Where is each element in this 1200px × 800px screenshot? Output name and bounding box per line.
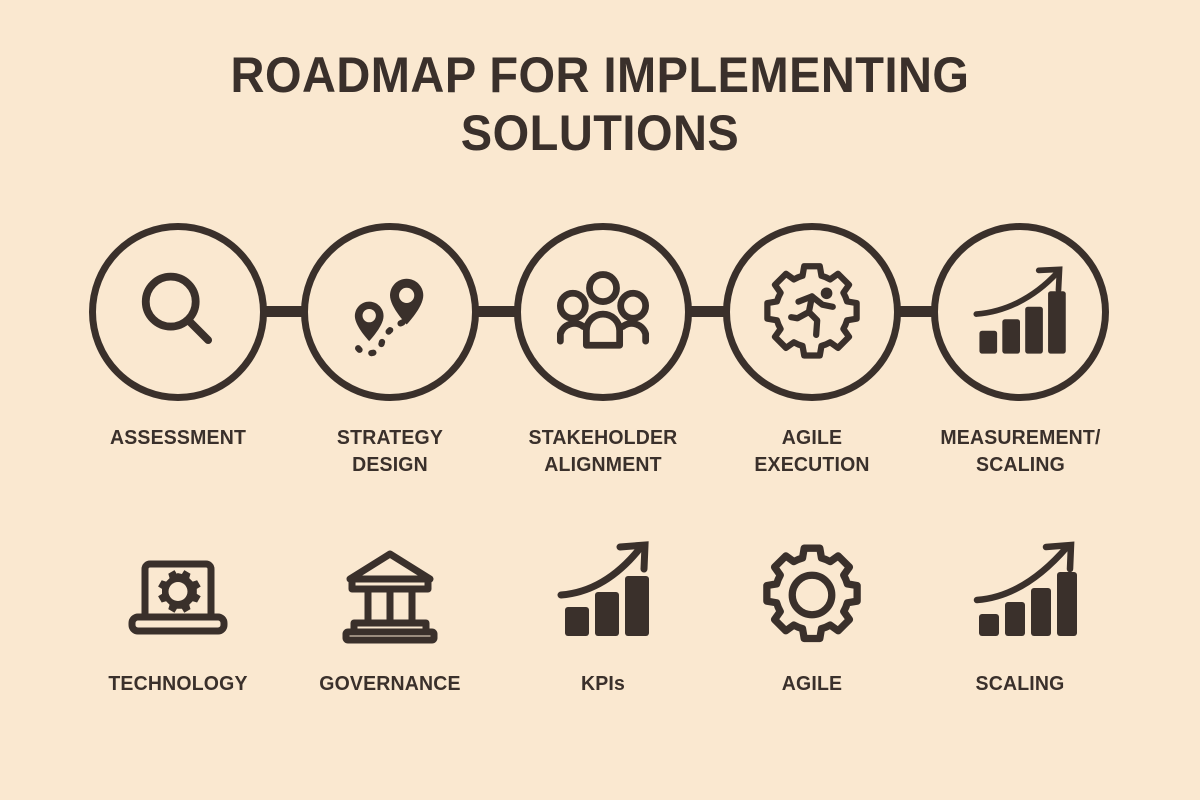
roadmap-node-stakeholder-alignment[interactable] [514,223,692,401]
growth-arrow [976,269,1059,314]
bar-4 [1048,291,1066,353]
roadmap-label-stakeholder-alignment: STAKEHOLDER ALIGNMENT [485,424,721,478]
laptop-gear-icon [118,545,238,645]
support-icon-scaling[interactable] [963,535,1093,645]
kpi-bar-chart-icon [553,538,663,643]
support-label-technology: TECHNOLOGY [74,672,283,696]
growth-arrow [977,545,1071,600]
infographic-page: ROADMAP FOR IMPLEMENTING SOLUTIONS [0,0,1200,800]
support-label-agile: AGILE [708,672,917,696]
roadmap-label-strategy-design: STRATEGY DESIGN [276,424,504,478]
roadmap-node-measurement-scaling[interactable] [931,223,1109,401]
support-label-kpis: KPIs [499,672,708,696]
roadmap-label-measurement-scaling: MEASUREMENT/ SCALING [904,424,1137,478]
bar-1 [979,331,997,354]
bar-3 [1031,588,1051,636]
connector-2 [474,306,518,317]
gear-icon [758,543,866,647]
support-icon-kpis[interactable] [543,535,673,645]
bar-1 [565,607,589,636]
bar-3 [1025,307,1043,354]
connector-4 [896,306,935,317]
roadmap-node-strategy-design[interactable] [301,223,479,401]
roadmap-label-agile-execution: AGILE EXECUTION [698,424,926,478]
roadmap-node-agile-execution[interactable] [723,223,901,401]
support-label-scaling: SCALING [916,672,1125,696]
gear-runner-icon [760,260,864,364]
bar-4 [1057,572,1077,636]
support-icon-technology[interactable] [113,540,243,650]
route-map-pins-icon [338,260,442,364]
bar-2 [1005,602,1025,636]
connector-3 [687,306,727,317]
magnifier-icon [126,260,230,364]
bar-2 [595,592,619,636]
support-icon-agile[interactable] [747,540,877,650]
scaling-bar-chart-icon [969,538,1087,643]
bar-3 [625,576,649,636]
people-group-icon [551,260,655,364]
page-title: ROADMAP FOR IMPLEMENTING SOLUTIONS [36,46,1164,162]
roadmap-node-assessment[interactable] [89,223,267,401]
support-label-governance: GOVERNANCE [286,672,495,696]
support-icon-governance[interactable] [325,540,455,650]
growth-chart-icon [968,260,1072,364]
bar-1 [979,614,999,636]
roadmap-row [0,223,1200,403]
bar-2 [1002,319,1020,353]
bank-building-icon [330,545,450,645]
roadmap-label-assessment: ASSESSMENT [64,424,292,451]
